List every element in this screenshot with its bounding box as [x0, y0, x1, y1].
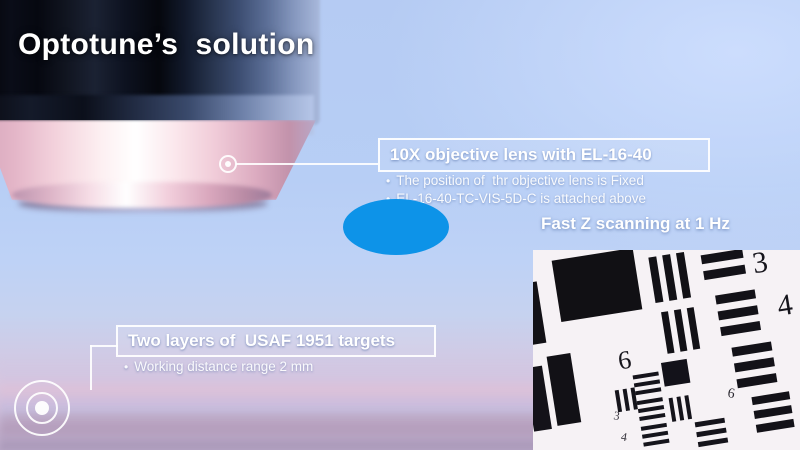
bullet-dot-icon: • — [386, 172, 390, 190]
callout-usaf-targets[interactable]: Two layers of USAF 1951 targets — [116, 325, 436, 357]
video-inset-usaf-target[interactable]: 3 4 6 6 3 4 — [533, 250, 800, 450]
bullet-item: • Working distance range 2 mm — [124, 358, 313, 376]
bullet-text: Working distance range 2 mm — [134, 358, 313, 376]
bullet-dot-icon: • — [124, 358, 128, 376]
inset-label: Fast Z scanning at 1 Hz — [541, 214, 730, 234]
blue-ellipse-annotation — [343, 199, 449, 255]
objective-front-ring — [12, 182, 272, 208]
target-marker-objective-dot-icon — [225, 161, 231, 167]
leader-line-objective — [236, 163, 378, 165]
callout-usaf-targets-heading: Two layers of USAF 1951 targets — [128, 331, 395, 351]
callout-usaf-targets-bullets: • Working distance range 2 mm — [124, 358, 313, 376]
page-title: Optotune’s solution — [18, 28, 315, 62]
leader-line-targets-vertical — [90, 345, 92, 390]
bullet-item: • The position of thr objective lens is … — [386, 172, 646, 190]
usaf-target-image: 3 4 6 6 3 4 — [533, 250, 800, 450]
leader-line-targets-horizontal — [90, 345, 118, 347]
bullet-text: EL-16-40-TC-VIS-5D-C is attached above — [396, 190, 646, 208]
bullet-text: The position of thr objective lens is Fi… — [396, 172, 644, 190]
callout-objective-lens[interactable]: 10X objective lens with EL-16-40 — [378, 138, 710, 172]
slide-canvas: Optotune’s solution 10X objective lens w… — [0, 0, 800, 450]
target-marker-usaf-dot-icon — [35, 401, 49, 415]
callout-objective-lens-heading: 10X objective lens with EL-16-40 — [390, 145, 652, 165]
